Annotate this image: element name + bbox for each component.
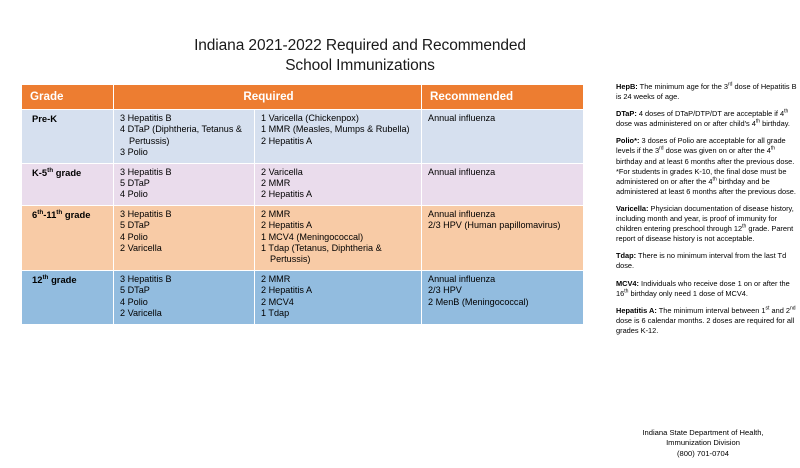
list-item: 2 MMR (261, 274, 415, 285)
list-item: 2 MCV4 (261, 297, 415, 308)
note-polio: Polio*: 3 doses of Polio are acceptable … (616, 136, 797, 197)
footer-phone: (800) 701-0704 (608, 449, 798, 459)
required-primary-k5: 3 Hepatitis B5 DTaP4 Polio (114, 163, 255, 205)
page-title-line-1: Indiana 2021-2022 Required and Recommend… (120, 36, 600, 56)
list-item: 2/3 HPV (428, 285, 577, 296)
list-item: 5 DTaP (120, 285, 248, 296)
list-item: 1 Varicella (Chickenpox) (261, 113, 415, 124)
column-header-grade: Grade (22, 85, 114, 110)
footer-line-1: Indiana State Department of Health, (608, 428, 798, 438)
note-label: MCV4: (616, 279, 639, 288)
note-label: HepB: (616, 82, 638, 91)
list-item: Annual influenza (428, 274, 577, 285)
note-dtap: DTaP: 4 doses of DTaP/DTP/DT are accepta… (616, 109, 797, 129)
list-item: 2 Varicella (261, 167, 415, 178)
list-item: Annual influenza (428, 113, 577, 124)
list-item: 5 DTaP (120, 178, 248, 189)
list-item: 3 Hepatitis B (120, 167, 248, 178)
required-secondary-6-11: 2 MMR2 Hepatitis A1 MCV4 (Meningococcal)… (255, 205, 422, 270)
required-primary-prek: 3 Hepatitis B4 DTaP (Diphtheria, Tetanus… (114, 110, 255, 164)
note-mcv4: MCV4: Individuals who receive dose 1 on … (616, 279, 797, 299)
list-item: 1 Tdap (261, 308, 415, 319)
required-secondary-prek: 1 Varicella (Chickenpox)1 MMR (Measles, … (255, 110, 422, 164)
list-item: 2 MenB (Meningococcal) (428, 297, 577, 308)
list-item: Annual influenza (428, 209, 577, 220)
list-item: 2 MMR (261, 178, 415, 189)
page-title: Indiana 2021-2022 Required and Recommend… (120, 36, 600, 76)
grade-label-6-11: 6th-11th grade (22, 205, 114, 270)
note-label: Tdap: (616, 251, 636, 260)
recommended-prek: Annual influenza (422, 110, 584, 164)
grade-label-prek: Pre-K (22, 110, 114, 164)
table-row-prek: Pre-K 3 Hepatitis B4 DTaP (Diphtheria, T… (22, 110, 584, 164)
list-item: 3 Hepatitis B (120, 274, 248, 285)
table-header-row: Grade Required Recommended (22, 85, 584, 110)
list-item: 2/3 HPV (Human papillomavirus) (428, 220, 577, 231)
required-primary-6-11: 3 Hepatitis B5 DTaP4 Polio2 Varicella (114, 205, 255, 270)
list-item: Annual influenza (428, 167, 577, 178)
note-hepatitis-a: Hepatitis A: The minimum interval betwee… (616, 306, 797, 336)
list-item: 2 Hepatitis A (261, 136, 415, 147)
list-item: 2 Hepatitis A (261, 285, 415, 296)
footer-line-2: Immunization Division (608, 438, 798, 448)
note-label: Hepatitis A: (616, 306, 657, 315)
list-item: 4 Polio (120, 297, 248, 308)
immunization-schedule-table: Grade Required Recommended Pre-K 3 Hepat… (21, 84, 584, 325)
note-label: Varicella: (616, 204, 648, 213)
table-body: Pre-K 3 Hepatitis B4 DTaP (Diphtheria, T… (22, 110, 584, 325)
immunization-infographic: Indiana 2021-2022 Required and Recommend… (0, 0, 800, 468)
table-header: Grade Required Recommended (22, 85, 584, 110)
recommended-k5: Annual influenza (422, 163, 584, 205)
list-item: 4 Polio (120, 189, 248, 200)
note-varicella: Varicella: Physician documentation of di… (616, 204, 797, 244)
note-label: Polio*: (616, 136, 639, 145)
footer-agency: Indiana State Department of Health, Immu… (608, 428, 798, 459)
list-item: 2 Varicella (120, 243, 248, 254)
required-secondary-k5: 2 Varicella2 MMR2 Hepatitis A (255, 163, 422, 205)
list-item: 2 MMR (261, 209, 415, 220)
list-item: 1 Tdap (Tetanus, Diphtheria & Pertussis) (261, 243, 415, 266)
note-label: DTaP: (616, 109, 637, 118)
column-header-recommended: Recommended (422, 85, 584, 110)
list-item: 3 Hepatitis B (120, 209, 248, 220)
table-row-k5: K-5th grade 3 Hepatitis B5 DTaP4 Polio 2… (22, 163, 584, 205)
list-item: 4 Polio (120, 232, 248, 243)
list-item: 2 Hepatitis A (261, 189, 415, 200)
table-row-12: 12th grade 3 Hepatitis B5 DTaP4 Polio2 V… (22, 270, 584, 324)
list-item: 3 Polio (120, 147, 248, 158)
list-item: 3 Hepatitis B (120, 113, 248, 124)
note-hepb: HepB: The minimum age for the 3rd dose o… (616, 82, 797, 102)
list-item: 1 MMR (Measles, Mumps & Rubella) (261, 124, 415, 135)
recommended-6-11: Annual influenza2/3 HPV (Human papilloma… (422, 205, 584, 270)
list-item: 4 DTaP (Diphtheria, Tetanus & Pertussis) (120, 124, 248, 147)
note-tdap: Tdap: There is no minimum interval from … (616, 251, 797, 271)
column-header-required: Required (114, 85, 422, 110)
list-item: 1 MCV4 (Meningococcal) (261, 232, 415, 243)
notes-panel: HepB: The minimum age for the 3rd dose o… (616, 82, 797, 343)
list-item: 2 Hepatitis A (261, 220, 415, 231)
required-secondary-12: 2 MMR2 Hepatitis A2 MCV41 Tdap (255, 270, 422, 324)
required-primary-12: 3 Hepatitis B5 DTaP4 Polio2 Varicella (114, 270, 255, 324)
list-item: 2 Varicella (120, 308, 248, 319)
recommended-12: Annual influenza2/3 HPV2 MenB (Meningoco… (422, 270, 584, 324)
list-item: 5 DTaP (120, 220, 248, 231)
table-row-6-11: 6th-11th grade 3 Hepatitis B5 DTaP4 Poli… (22, 205, 584, 270)
grade-label-k5: K-5th grade (22, 163, 114, 205)
page-title-line-2: School Immunizations (120, 56, 600, 76)
grade-label-12: 12th grade (22, 270, 114, 324)
